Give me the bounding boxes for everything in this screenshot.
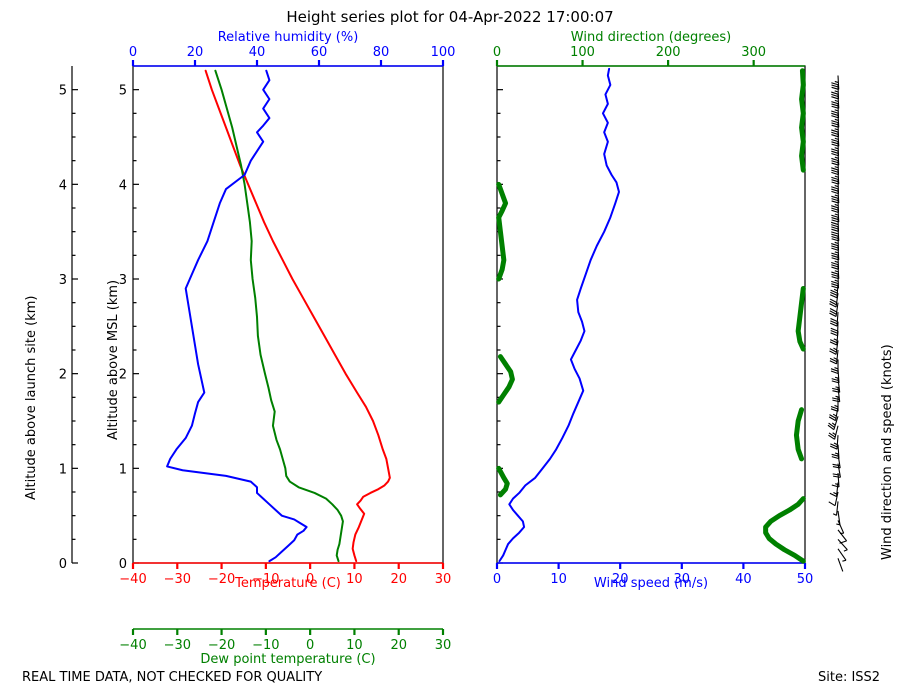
x-tick-label: 50 — [797, 572, 814, 587]
barb-half — [834, 289, 837, 291]
barb-full — [831, 172, 838, 174]
barb-half — [833, 414, 836, 416]
y-tick-label: 5 — [59, 84, 67, 99]
x-tick-label: 0 — [306, 572, 314, 587]
barb-full — [831, 244, 838, 246]
barb-shaft — [838, 530, 847, 541]
x-tick-label: −20 — [208, 572, 235, 587]
series-wind-direction-degrees — [796, 410, 801, 459]
barb-full — [831, 222, 838, 224]
x-tick-label: −40 — [119, 572, 146, 587]
x-tick-label: 0 — [129, 45, 137, 60]
x-tick-label: −30 — [164, 572, 191, 587]
plot-frame-thermo — [133, 66, 443, 563]
barb-full — [831, 253, 838, 255]
barb-full — [831, 83, 838, 85]
barb-full — [831, 234, 838, 236]
y-tick-label: 1 — [119, 462, 127, 477]
x-tick-label: 0 — [306, 638, 314, 653]
y-tick-label: 2 — [119, 368, 127, 383]
x-tick-label: 60 — [311, 45, 328, 60]
barb-full — [831, 94, 838, 96]
x-tick-label: 20 — [390, 638, 407, 653]
barb-full — [831, 281, 838, 283]
barb-half — [834, 358, 837, 360]
barb-full — [831, 248, 838, 250]
barb-full — [831, 225, 838, 227]
x-tick-label: 20 — [612, 572, 629, 587]
barb-full — [831, 229, 838, 231]
barb-half — [834, 339, 837, 341]
plot-frame-wind — [497, 66, 805, 563]
y-tick-label: 3 — [119, 273, 127, 288]
barb-full — [831, 135, 838, 137]
barb-full — [832, 400, 839, 402]
barb-full — [831, 170, 838, 172]
barb-full — [831, 246, 838, 248]
barb-full — [831, 227, 838, 229]
barb-full — [831, 215, 838, 217]
barb-full — [831, 265, 838, 267]
barb-half — [833, 348, 836, 350]
series-wind-direction-degrees — [766, 499, 804, 561]
x-tick-label: −30 — [164, 638, 191, 653]
x-tick-label: 10 — [346, 572, 363, 587]
barb-half — [833, 514, 836, 516]
barb-full — [831, 189, 838, 191]
barb-full — [831, 149, 838, 151]
series-dew-point-temperature-c — [215, 71, 343, 561]
barb-full — [831, 262, 838, 264]
y-tick-label: 4 — [119, 178, 127, 193]
barb-full — [831, 272, 838, 274]
x-tick-label: 0 — [493, 572, 501, 587]
barb-full — [833, 464, 840, 465]
series-wind-direction-degrees — [499, 357, 513, 402]
series-wind-direction-degrees — [798, 288, 803, 349]
series-wind-direction-degrees — [499, 468, 508, 495]
y-tick-label: 4 — [59, 178, 67, 193]
x-tick-label: 100 — [570, 45, 595, 60]
x-tick-label: 30 — [435, 638, 452, 653]
y-tick-label: 1 — [59, 462, 67, 477]
barb-full — [831, 92, 838, 94]
x-tick-label: 40 — [735, 572, 752, 587]
barb-full — [833, 476, 840, 477]
barb-full — [831, 97, 838, 99]
barb-full — [831, 191, 838, 193]
x-tick-label: 30 — [435, 572, 452, 587]
barb-half — [842, 560, 846, 561]
barb-half — [836, 524, 840, 525]
wind-barb-column — [828, 75, 847, 571]
y-tick-label: 5 — [119, 84, 127, 99]
x-tick-label: 40 — [249, 45, 266, 60]
barb-full — [831, 168, 838, 170]
barb-full — [829, 502, 835, 506]
barb-full — [831, 153, 838, 155]
barb-full — [831, 232, 838, 234]
barb-full — [831, 151, 838, 153]
y-tick-label: 0 — [59, 557, 67, 572]
x-tick-label: −40 — [119, 638, 146, 653]
y-tick-label: 0 — [119, 557, 127, 572]
barb-full — [831, 196, 838, 198]
x-tick-label: 200 — [656, 45, 681, 60]
x-tick-label: 100 — [431, 45, 456, 60]
barb-half — [833, 493, 836, 495]
x-tick-label: 300 — [741, 45, 766, 60]
x-tick-label: 10 — [550, 572, 567, 587]
barb-full — [833, 474, 840, 475]
barb-shaft — [838, 558, 843, 571]
x-tick-label: −10 — [252, 572, 279, 587]
barb-full — [831, 102, 838, 104]
barb-full — [831, 208, 838, 210]
barb-full — [831, 177, 838, 179]
x-tick-label: −20 — [208, 638, 235, 653]
y-tick-label: 2 — [59, 368, 67, 383]
barb-full — [831, 130, 838, 132]
barb-half — [833, 433, 836, 435]
series-wind-direction-degrees — [499, 184, 506, 279]
x-tick-label: −10 — [252, 638, 279, 653]
barb-half — [834, 443, 837, 445]
barb-half — [832, 423, 835, 425]
series-wind-speed-m-s — [499, 69, 619, 561]
x-tick-label: 30 — [674, 572, 691, 587]
barb-full — [831, 187, 838, 189]
barb-full — [831, 158, 838, 160]
sounding-plot: 012345012345020406080100−40−30−20−100102… — [0, 0, 900, 700]
barb-full — [831, 210, 838, 212]
barb-full — [831, 284, 838, 286]
x-tick-label: 20 — [187, 45, 204, 60]
barb-full — [831, 111, 838, 113]
barb-full — [831, 116, 838, 118]
x-tick-label: 80 — [373, 45, 390, 60]
series-wind-direction-degrees — [802, 71, 804, 170]
x-tick-label: 20 — [390, 572, 407, 587]
barb-full — [831, 267, 838, 269]
x-tick-label: 0 — [493, 45, 501, 60]
barb-full — [831, 113, 838, 115]
barb-full — [831, 140, 838, 142]
y-tick-label: 3 — [59, 273, 67, 288]
barb-full — [831, 132, 838, 134]
barb-full — [831, 121, 838, 123]
barb-half — [844, 550, 847, 551]
x-tick-label: 10 — [346, 638, 363, 653]
barb-full — [831, 206, 838, 208]
